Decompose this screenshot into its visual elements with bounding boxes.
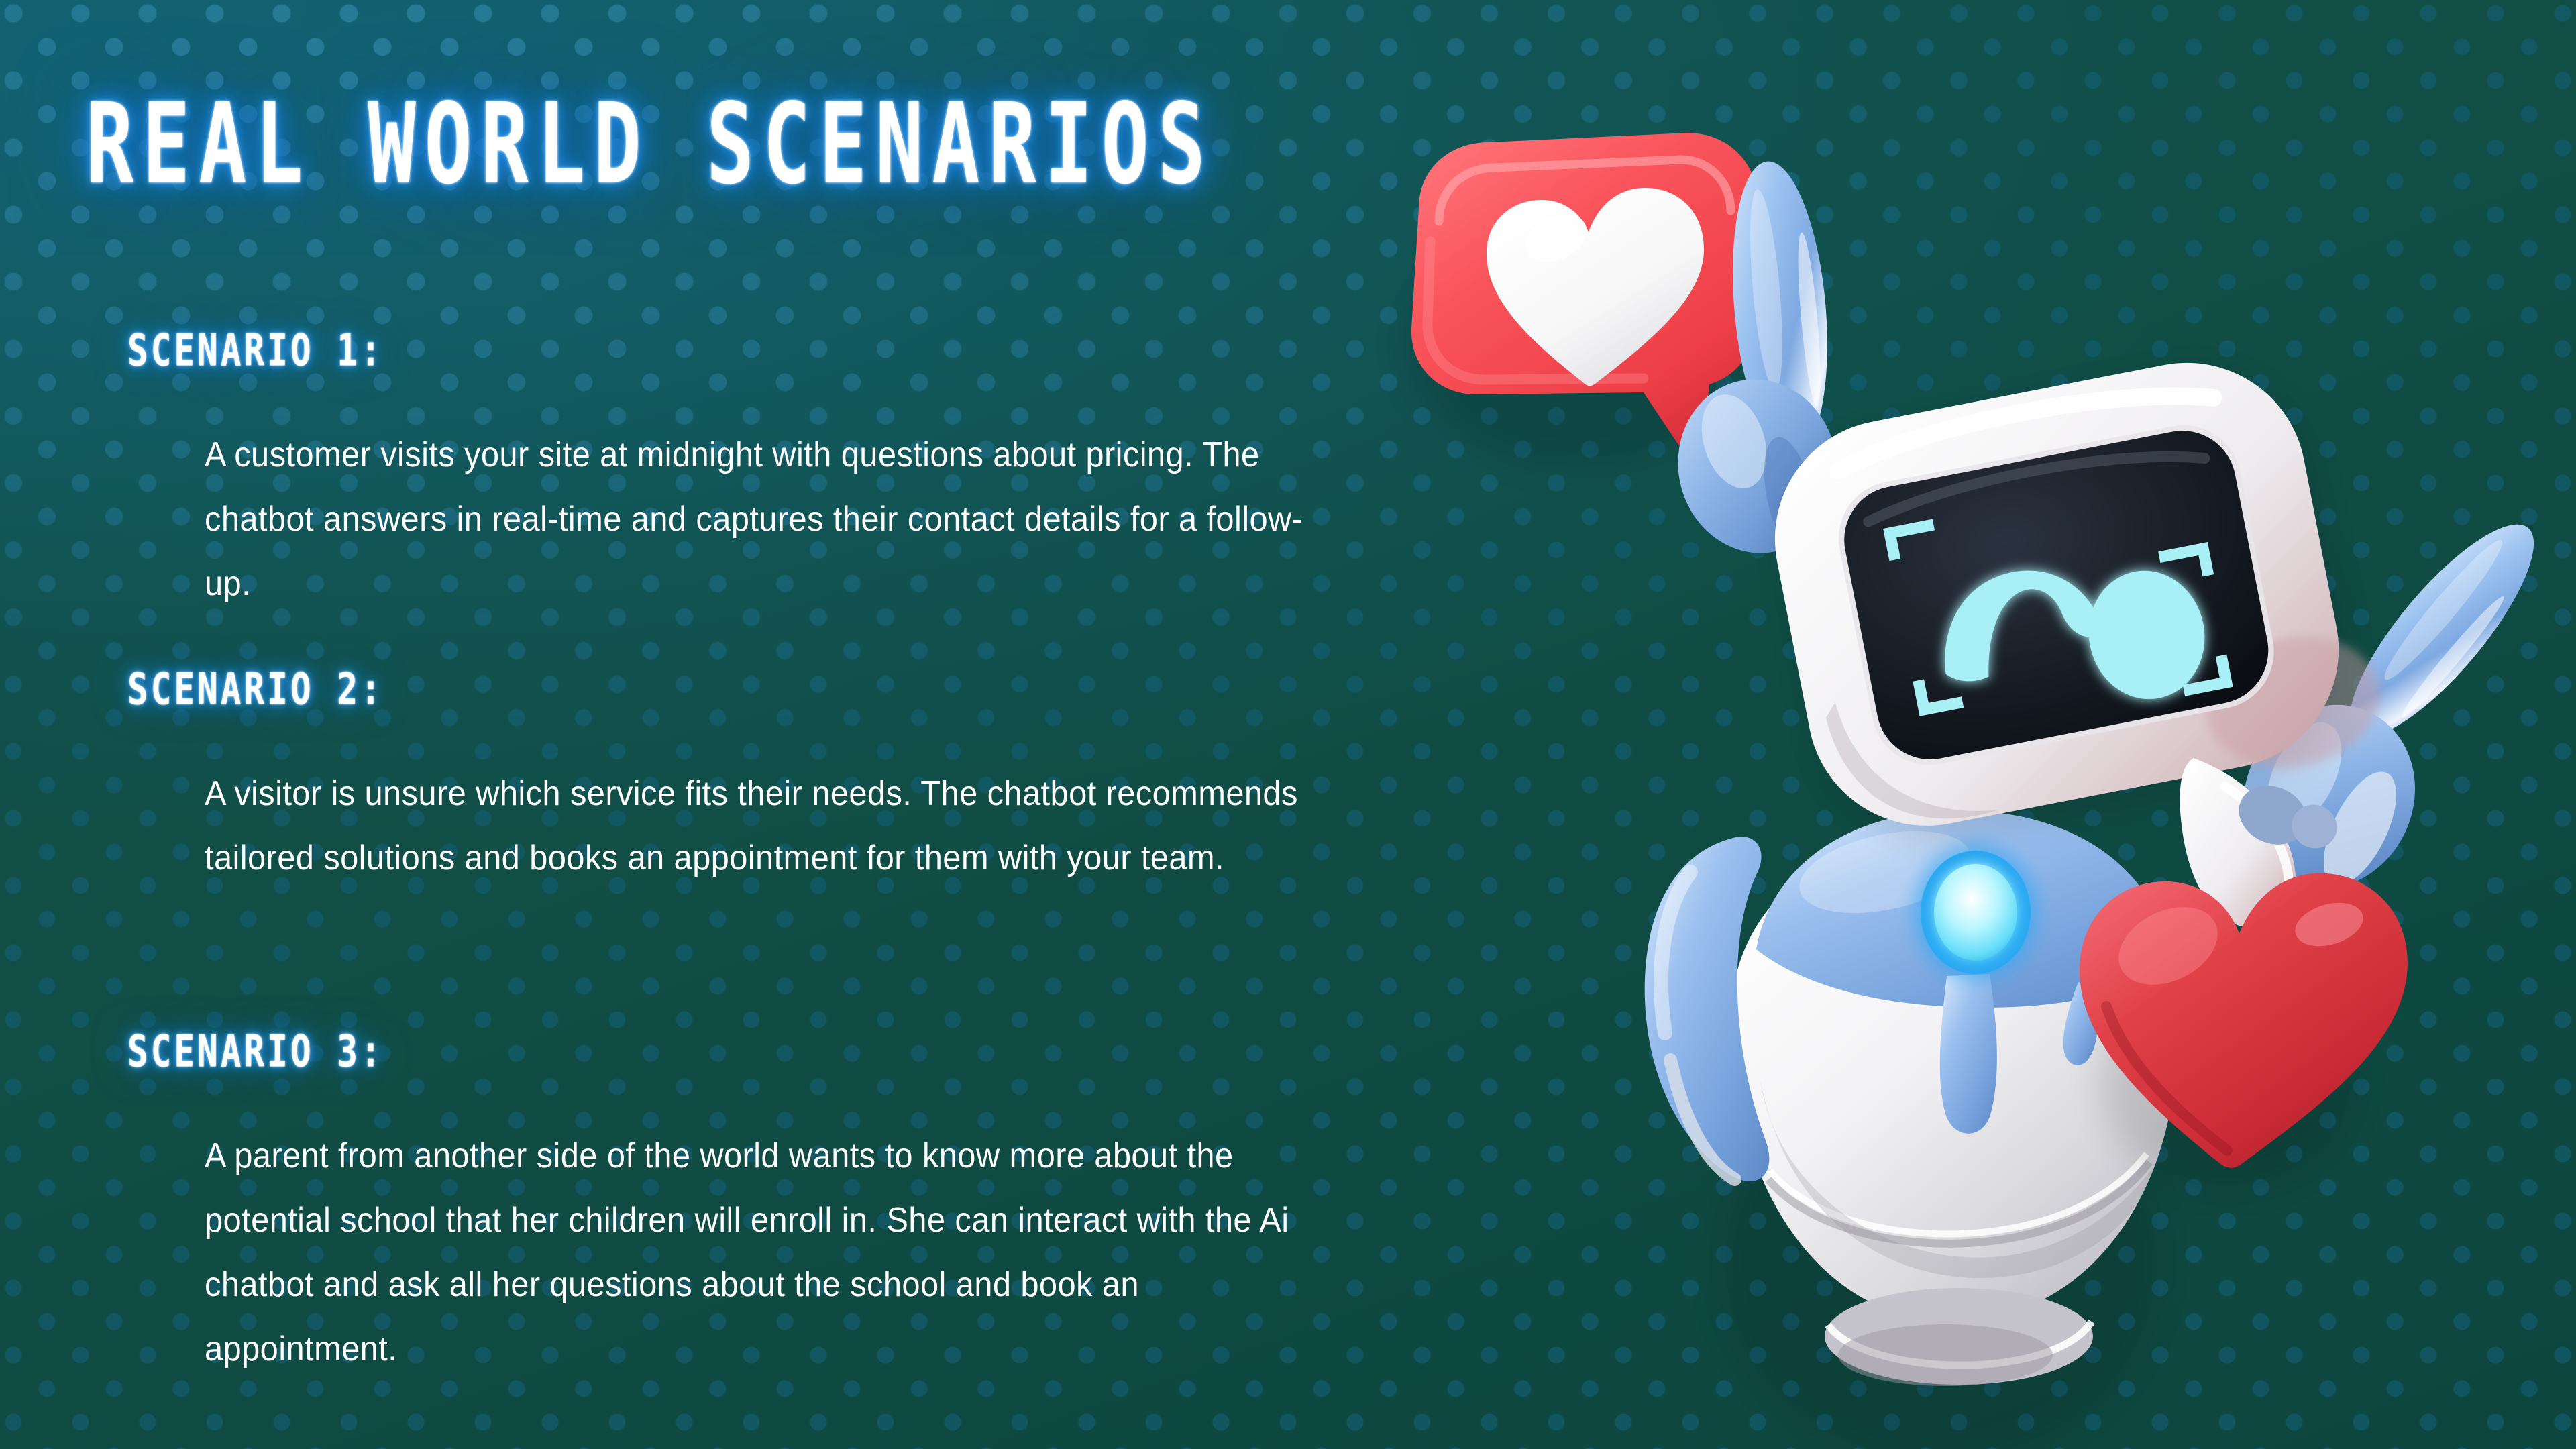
- scenario-3-body: A parent from another side of the world …: [205, 1124, 1340, 1381]
- text-column: REAL WORLD SCENARIOS SCENARIO 1: A custo…: [0, 0, 1442, 1449]
- scenario-2-heading: SCENARIO 2:: [127, 667, 384, 711]
- slide-canvas: REAL WORLD SCENARIOS SCENARIO 1: A custo…: [0, 0, 2576, 1449]
- page-title: REAL WORLD SCENARIOS: [86, 89, 1214, 200]
- scenario-2-body: A visitor is unsure which service fits t…: [205, 761, 1340, 890]
- scenario-1-body: A customer visits your site at midnight …: [205, 423, 1340, 616]
- chest-light: [1903, 833, 2048, 991]
- chatbot-robot-illustration: [1355, 121, 2576, 1449]
- scenario-3-heading: SCENARIO 3:: [127, 1030, 384, 1073]
- scenario-1-heading: SCENARIO 1:: [127, 329, 384, 372]
